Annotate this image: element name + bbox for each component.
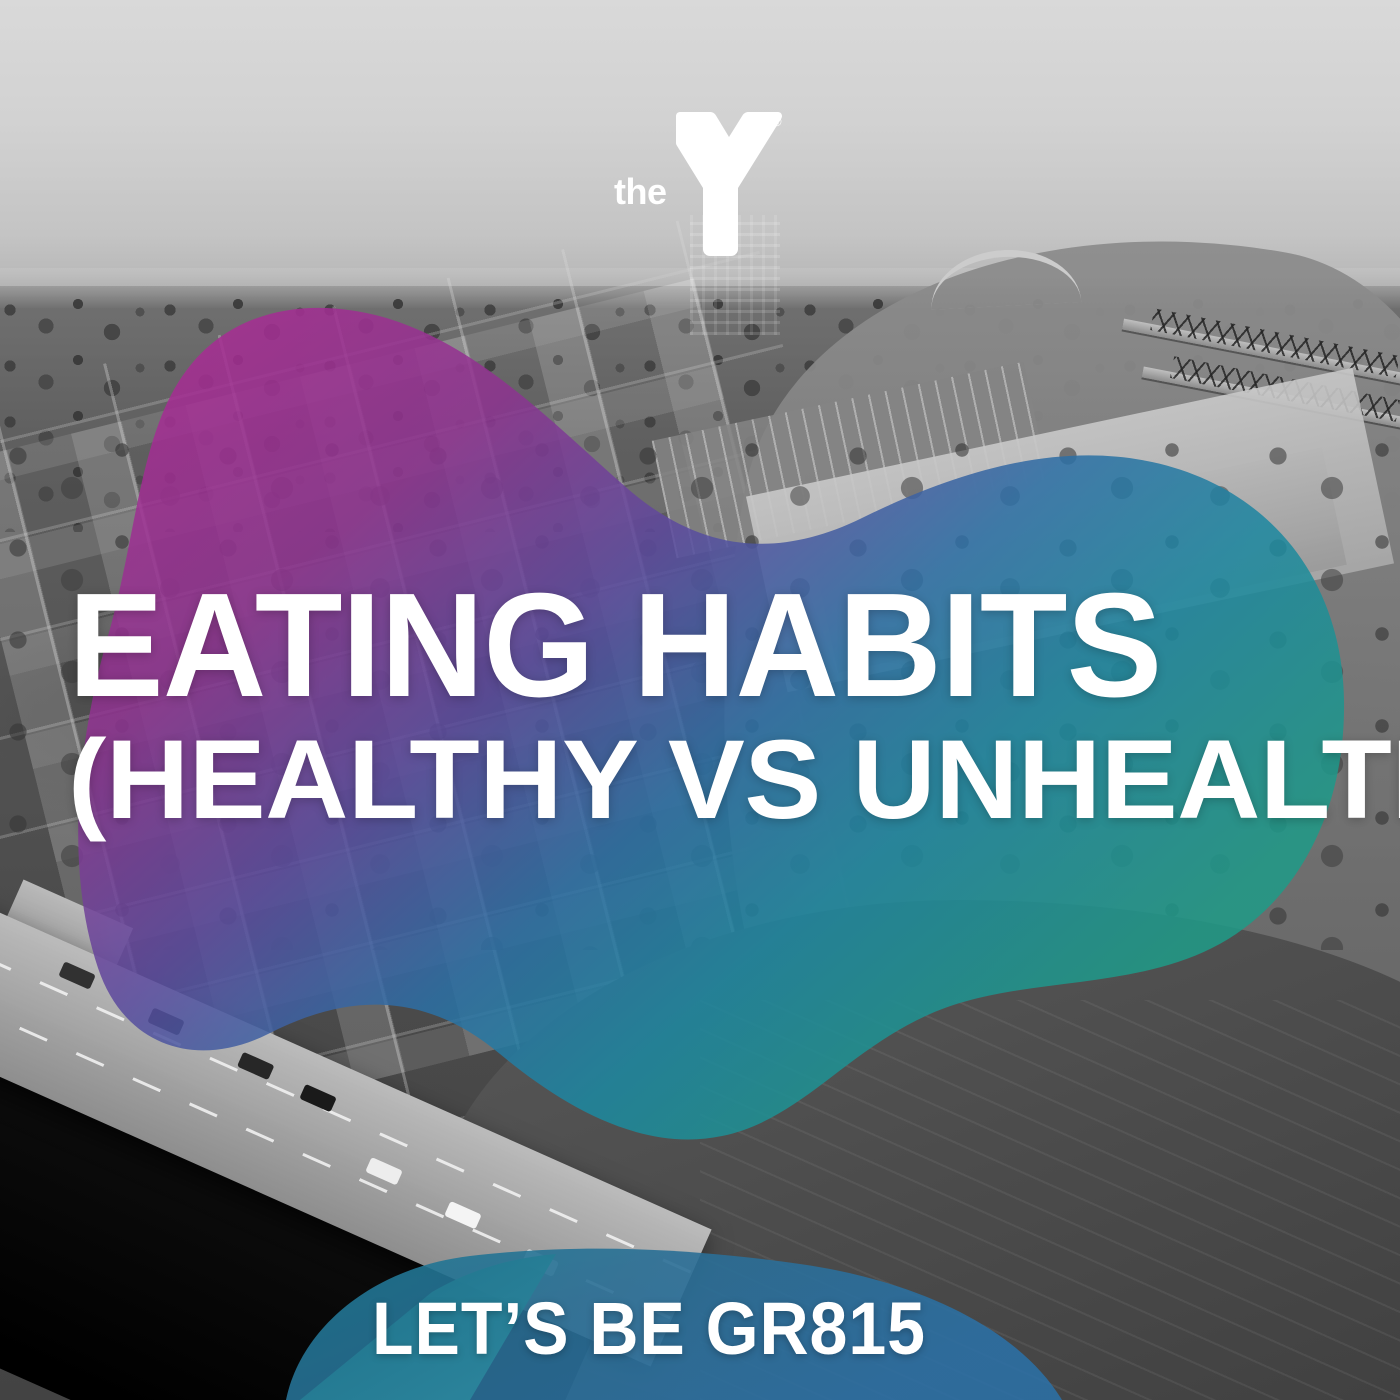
headline-block: EATING HABITS (HEALTHY VS UNHEALTHY) bbox=[68, 578, 1348, 831]
registered-trademark-icon: ® bbox=[772, 114, 782, 129]
ymca-y-icon bbox=[668, 112, 786, 257]
title-line-2: (HEALTHY VS UNHEALTHY) bbox=[68, 728, 1386, 831]
podcast-cover-art: the ® YMCA EATING HABITS (HEALTHY VS UNH… bbox=[0, 0, 1400, 1400]
ymca-logo[interactable]: the ® YMCA bbox=[612, 112, 792, 257]
logo-the-label: the bbox=[614, 174, 667, 210]
logo-ymca-wordmark: YMCA bbox=[708, 157, 726, 208]
title-line-1: EATING HABITS bbox=[68, 578, 1310, 714]
tagline: LET’S BE GR815 bbox=[372, 1292, 926, 1366]
